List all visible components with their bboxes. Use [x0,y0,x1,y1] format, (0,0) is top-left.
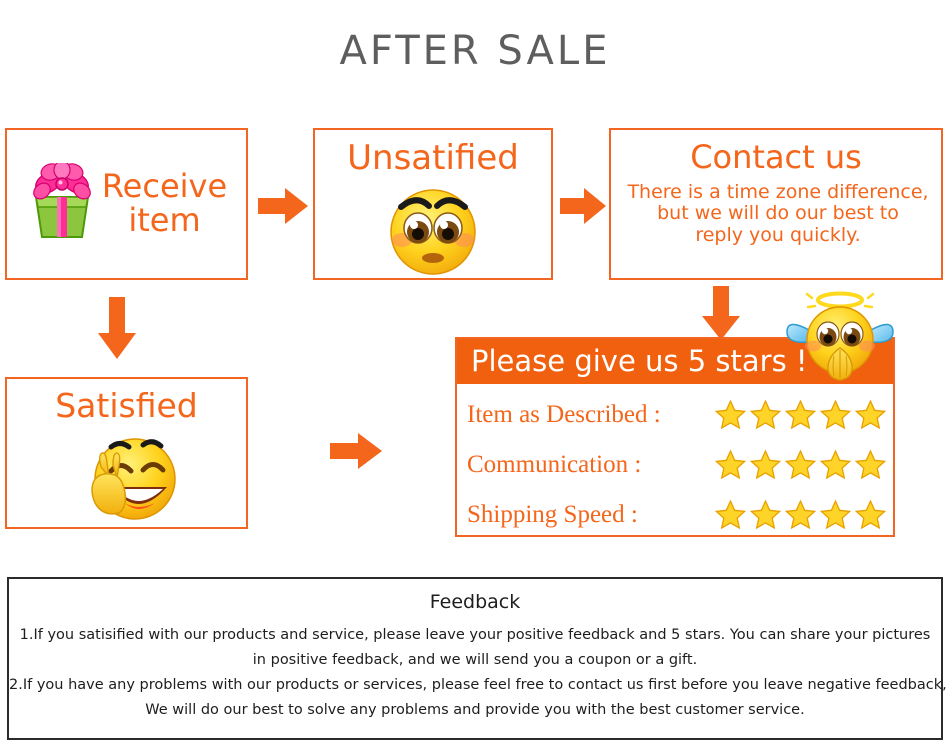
arrow-receive-to-unsatified-icon [258,185,308,227]
rating-stars-item-as-described [714,399,887,431]
star-icon [784,449,817,481]
star-icon [819,449,852,481]
rating-row: Communication : [467,441,887,489]
rating-label-shipping-speed: Shipping Speed : [467,501,714,529]
happy-face-peace-sign-icon [67,427,187,527]
arrow-receive-to-satisfied-icon [96,297,138,359]
feedback-panel: Feedback 1.If you satisified with our pr… [7,577,943,740]
star-icon [854,449,887,481]
star-icon [854,399,887,431]
step-contact-us: Contact us There is a time zone differen… [609,128,943,280]
contact-subtitle-line2: but we will do our best to [619,203,937,224]
star-icon [784,399,817,431]
arrow-satisfied-to-rating-icon [330,430,382,472]
rating-stars-shipping-speed [714,499,887,531]
step-receive-item-label: Receive item [102,170,227,237]
step-satisfied-label: Satisfied [7,386,246,425]
step-receive-item: Receive item [5,128,248,280]
rating-label-item-as-described: Item as Described : [467,401,714,429]
feedback-line-3: 2.If you have any problems with our prod… [9,677,941,693]
sad-face-icon [385,182,481,278]
star-icon [714,449,747,481]
star-icon [749,399,782,431]
arrow-unsatified-to-contact-icon [560,185,606,227]
rating-row: Shipping Speed : [467,491,887,539]
receive-label-line1: Receive [102,170,227,204]
star-icon [714,499,747,531]
angel-praying-face-icon [785,290,895,382]
feedback-line-2: in positive feedback, and we will send y… [9,652,941,668]
page-title: AFTER SALE [0,28,950,74]
feedback-line-4: We will do our best to solve any problem… [9,702,941,718]
rating-stars-communication [714,449,887,481]
contact-subtitle-line1: There is a time zone difference, [619,182,937,203]
gift-icon [26,163,98,241]
feedback-title: Feedback [9,591,941,613]
contact-us-title: Contact us [611,138,941,176]
contact-subtitle-line3: reply you quickly. [619,225,937,246]
star-icon [819,399,852,431]
rating-row: Item as Described : [467,391,887,439]
step-unsatified-label: Unsatified [315,138,551,178]
arrow-contact-to-rating-icon [700,286,742,340]
star-icon [854,499,887,531]
step-satisfied: Satisfied [5,377,248,529]
step-unsatified: Unsatified [313,128,553,280]
star-icon [784,499,817,531]
star-icon [714,399,747,431]
star-icon [819,499,852,531]
receive-label-line2: item [102,204,227,238]
contact-us-subtitle: There is a time zone difference, but we … [619,182,937,246]
rating-label-communication: Communication : [467,451,714,479]
feedback-line-1: 1.If you satisified with our products an… [9,627,941,643]
star-icon [749,449,782,481]
star-icon [749,499,782,531]
